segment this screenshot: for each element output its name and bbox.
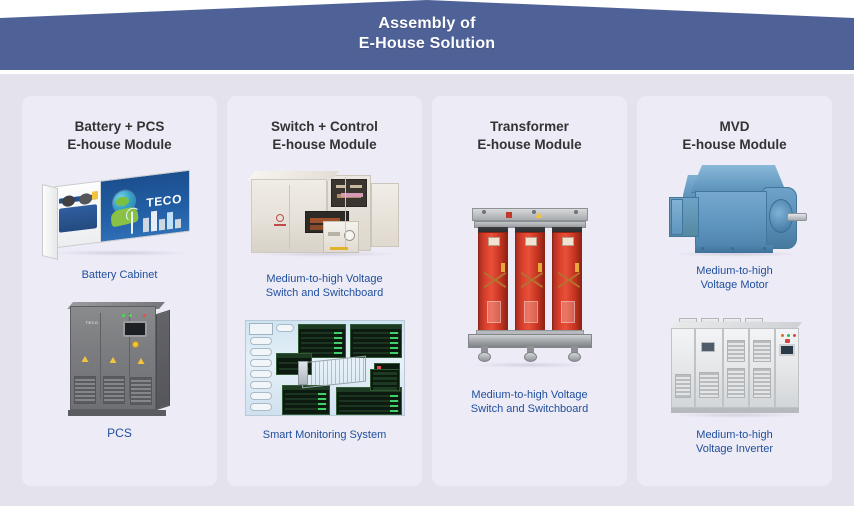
hmi-menu-button[interactable] [250,392,272,400]
pcs-brand-logo: TECO [86,320,99,325]
hmi-data-panel [336,387,402,415]
hmi-container-diagram [302,356,366,389]
page-title: Assembly of E-House Solution [0,14,854,54]
module-card-switch-control[interactable]: Switch + Control E-house Module [227,96,422,486]
module-card-battery-pcs[interactable]: Battery + PCS E-house Module [22,96,217,486]
hmi-menu-button[interactable] [250,337,272,345]
page-title-line1: Assembly of [0,14,854,34]
transformer-image [432,186,627,378]
hmi-menu-button[interactable] [250,359,272,367]
transformer-coil [515,232,545,334]
item-caption: Medium-to-high Voltage Switch and Switch… [227,272,422,300]
inverter-display-panel [779,344,795,356]
module-card-list: Battery + PCS E-house Module [22,96,832,486]
motor-shaft [787,213,807,221]
caster-wheel [478,346,491,362]
mv-motor-image [637,156,832,260]
item-caption: Medium-to-high Voltage Motor [637,264,832,292]
mv-inverter-image [637,314,832,422]
item-caption: Medium-to-high Voltage Inverter [637,428,832,456]
battery-container-image: TECO [22,160,217,264]
hmi-data-panel [350,324,402,358]
caster-wheel [524,346,537,362]
card-title: Battery + PCS E-house Module [22,118,217,154]
smart-monitoring-image [227,314,422,422]
switchgear-image [227,160,422,266]
pcs-cabinet-image: TECO [22,296,217,424]
transformer-top-yoke [472,208,588,221]
hmi-menu-button[interactable] [250,403,272,411]
card-title: Transformer E-house Module [432,118,627,154]
pcs-emergency-knob [132,341,139,348]
hmi-screen-title [249,323,273,335]
card-title: MVD E-house Module [637,118,832,154]
caster-wheel [568,346,581,362]
hmi-back-button[interactable] [276,324,294,332]
e-house-solution-infographic: Assembly of E-House Solution Battery + P… [0,0,854,506]
module-card-mvd[interactable]: MVD E-house Module [637,96,832,486]
emergency-stop-icon [785,339,790,343]
modules-panel: Battery + PCS E-house Module [0,74,854,506]
hmi-menu-button[interactable] [250,348,272,356]
page-title-line2: E-House Solution [0,34,854,54]
header-banner: Assembly of E-House Solution [0,0,854,70]
item-caption: Smart Monitoring System [227,428,422,442]
hmi-alarm-list [370,369,400,391]
transformer-coil [552,232,582,334]
item-caption: Medium-to-high Voltage Switch and Switch… [432,388,627,416]
hmi-data-panel [282,385,330,415]
hmi-menu-button[interactable] [250,381,272,389]
transformer-coil [478,232,508,334]
module-card-transformer[interactable]: Transformer E-house Module [432,96,627,486]
card-title: Switch + Control E-house Module [227,118,422,154]
item-caption: PCS [22,426,217,440]
hmi-menu-button[interactable] [250,370,272,378]
pcs-display-panel [123,321,147,337]
item-caption: Battery Cabinet [22,268,217,282]
inverter-small-display [701,342,715,352]
